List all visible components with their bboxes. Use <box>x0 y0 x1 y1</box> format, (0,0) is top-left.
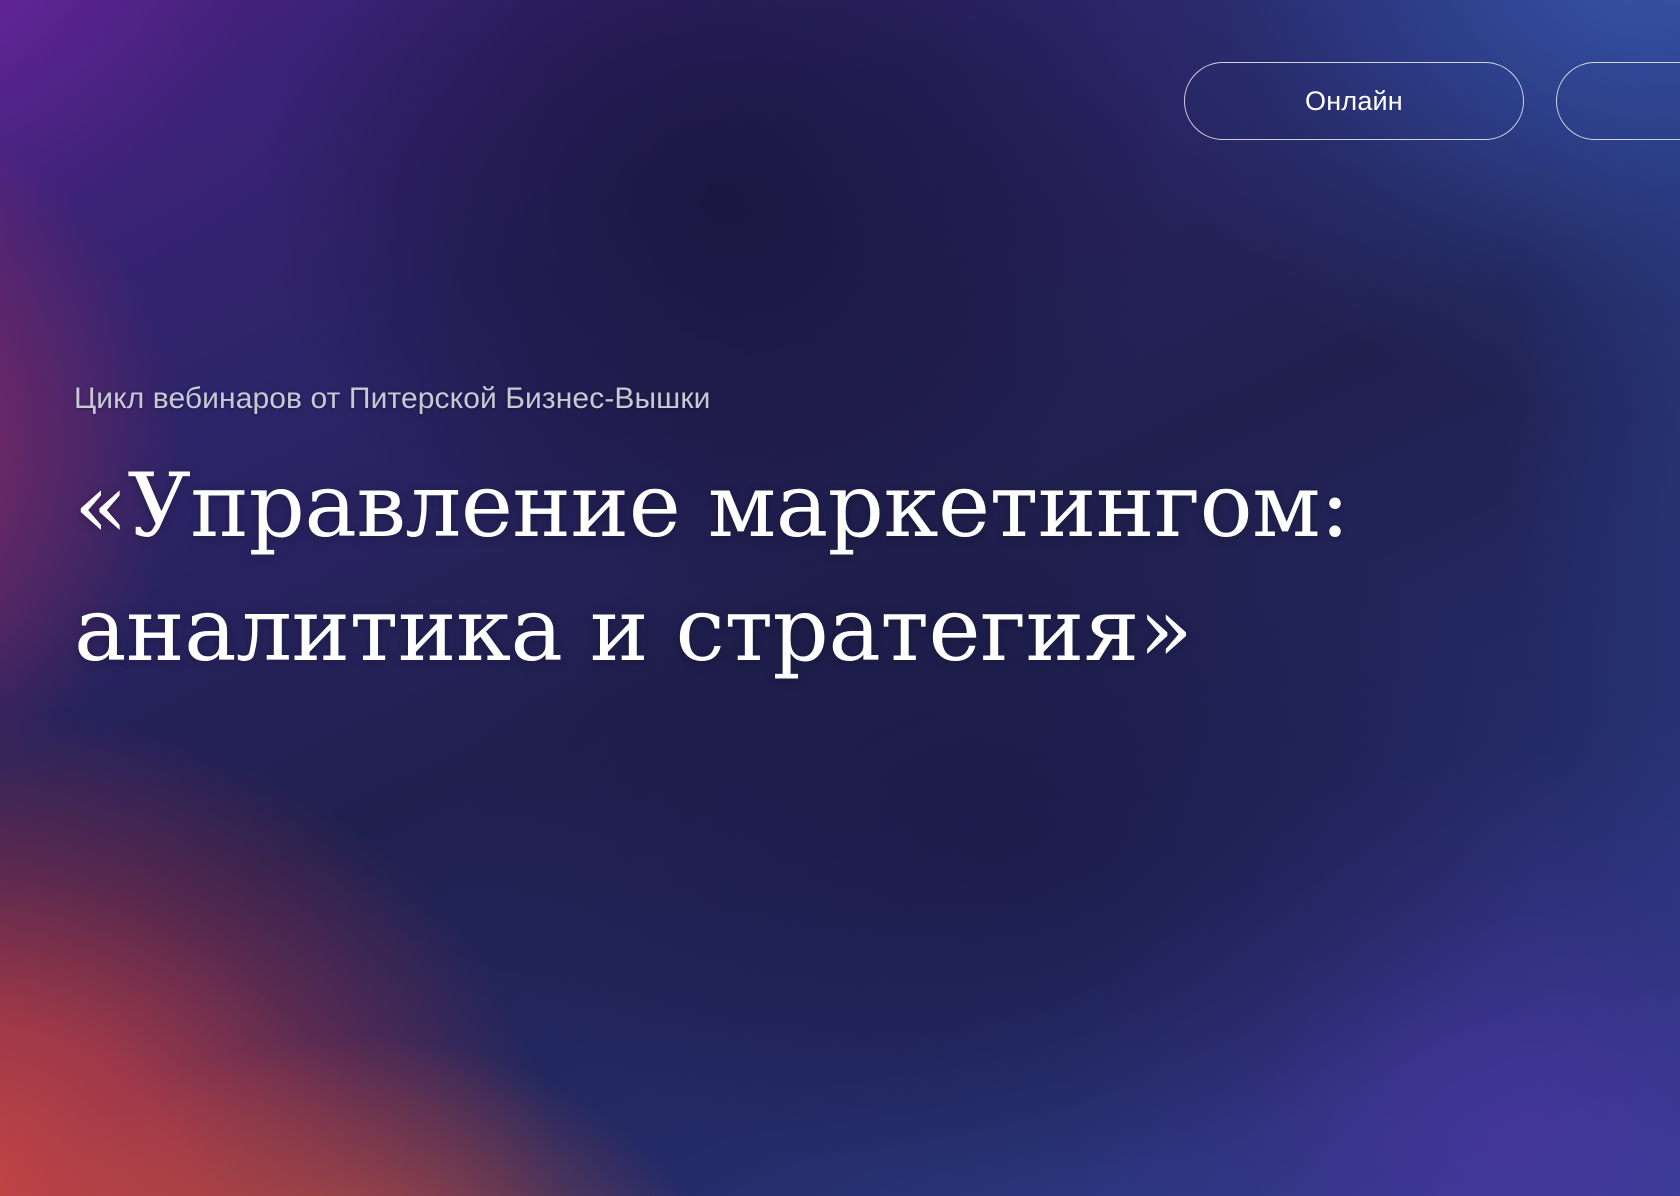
page-title-line-2: аналитика и стратегия» <box>74 568 1349 693</box>
format-badge[interactable]: Онлайн <box>1184 62 1524 140</box>
hero-banner: Онлайн Цикл вебинаров от Питерской Бизне… <box>0 0 1680 1196</box>
page-title-line-1: «Управление маркетингом: <box>74 444 1349 569</box>
page-title: «Управление маркетингом: аналитика и стр… <box>74 444 1349 694</box>
hero-content: Цикл вебинаров от Питерской Бизнес-Вышки… <box>74 380 1349 693</box>
format-badge-label: Онлайн <box>1305 86 1403 117</box>
hero-eyebrow: Цикл вебинаров от Питерской Бизнес-Вышки <box>74 380 1349 418</box>
badge-group: Онлайн <box>1184 62 1680 140</box>
secondary-badge-cut-off[interactable] <box>1556 62 1680 140</box>
